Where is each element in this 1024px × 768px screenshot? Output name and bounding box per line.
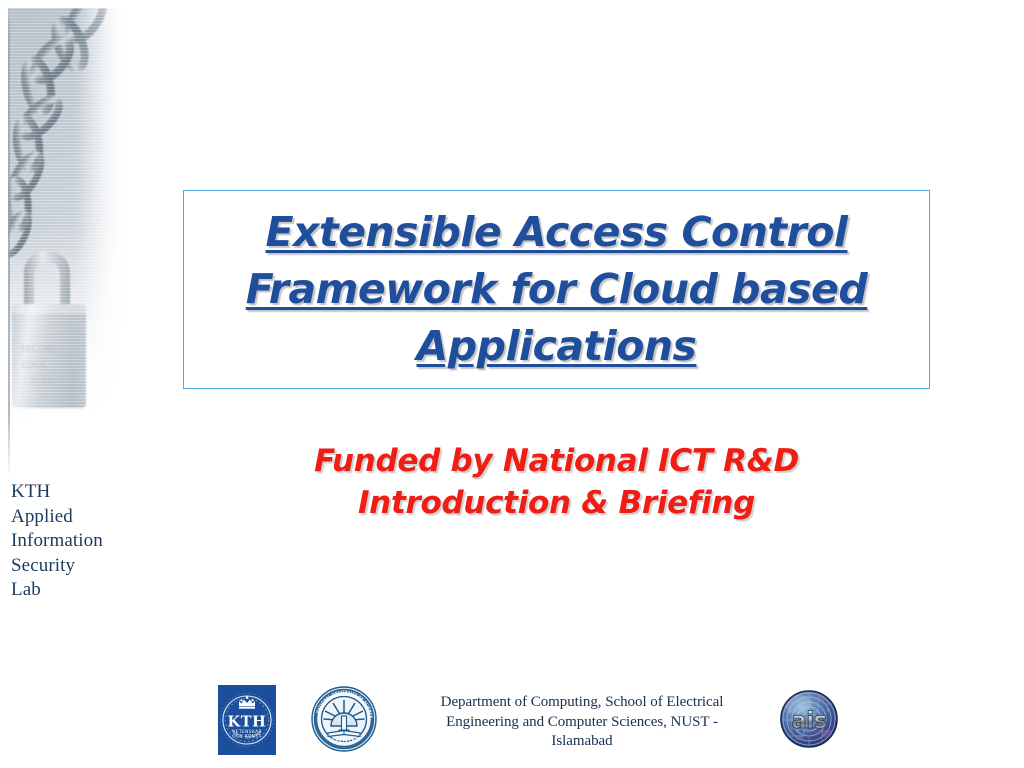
chain-and-padlock-image: SECURE LOCK 2010 01001101000101 10010100… (8, 8, 137, 428)
slide-canvas: SECURE LOCK 2010 01001101000101 10010100… (0, 0, 1024, 768)
footer-caption-line: Department of Computing, School of Elect… (401, 693, 763, 713)
footer-caption-line: Engineering and Computer Sciences, NUST … (401, 713, 763, 733)
nust-logo: NATIONAL UNIVERSITY OF SCIENCES & TECH P… (311, 686, 377, 752)
banner-left-rule (8, 8, 10, 478)
kth-logo: KTH VETENSKAP OCH KONST KUNGL TEKNISKA (218, 685, 276, 755)
page-title: Extensible Access Control Framework for … (184, 204, 929, 375)
lab-name-line: Applied (11, 505, 141, 530)
footer-row: KTH VETENSKAP OCH KONST KUNGL TEKNISKA (215, 684, 855, 764)
lab-name-line: Lab (11, 578, 141, 603)
subtitle: Funded by National ICT R&D Introduction … (183, 440, 930, 524)
title-box: Extensible Access Control Framework for … (183, 190, 930, 389)
subtitle-line: Funded by National ICT R&D (183, 440, 930, 482)
lab-name-line: Security (11, 554, 141, 579)
page-title-line: Framework for Cloud based (184, 261, 929, 318)
lab-name-line: Information (11, 529, 141, 554)
ais-logo: ais (778, 690, 840, 750)
banner-right-fade (8, 8, 137, 428)
lab-name: KTH Applied Information Security Lab (11, 480, 141, 603)
footer-caption-line: Islamabad (401, 732, 763, 752)
footer-caption: Department of Computing, School of Elect… (401, 693, 763, 752)
page-title-line: Applications (184, 318, 929, 375)
page-title-line: Extensible Access Control (184, 204, 929, 261)
lab-name-line: KTH (11, 480, 141, 505)
ais-wordmark: ais (791, 708, 827, 734)
subtitle-line: Introduction & Briefing (183, 482, 930, 524)
